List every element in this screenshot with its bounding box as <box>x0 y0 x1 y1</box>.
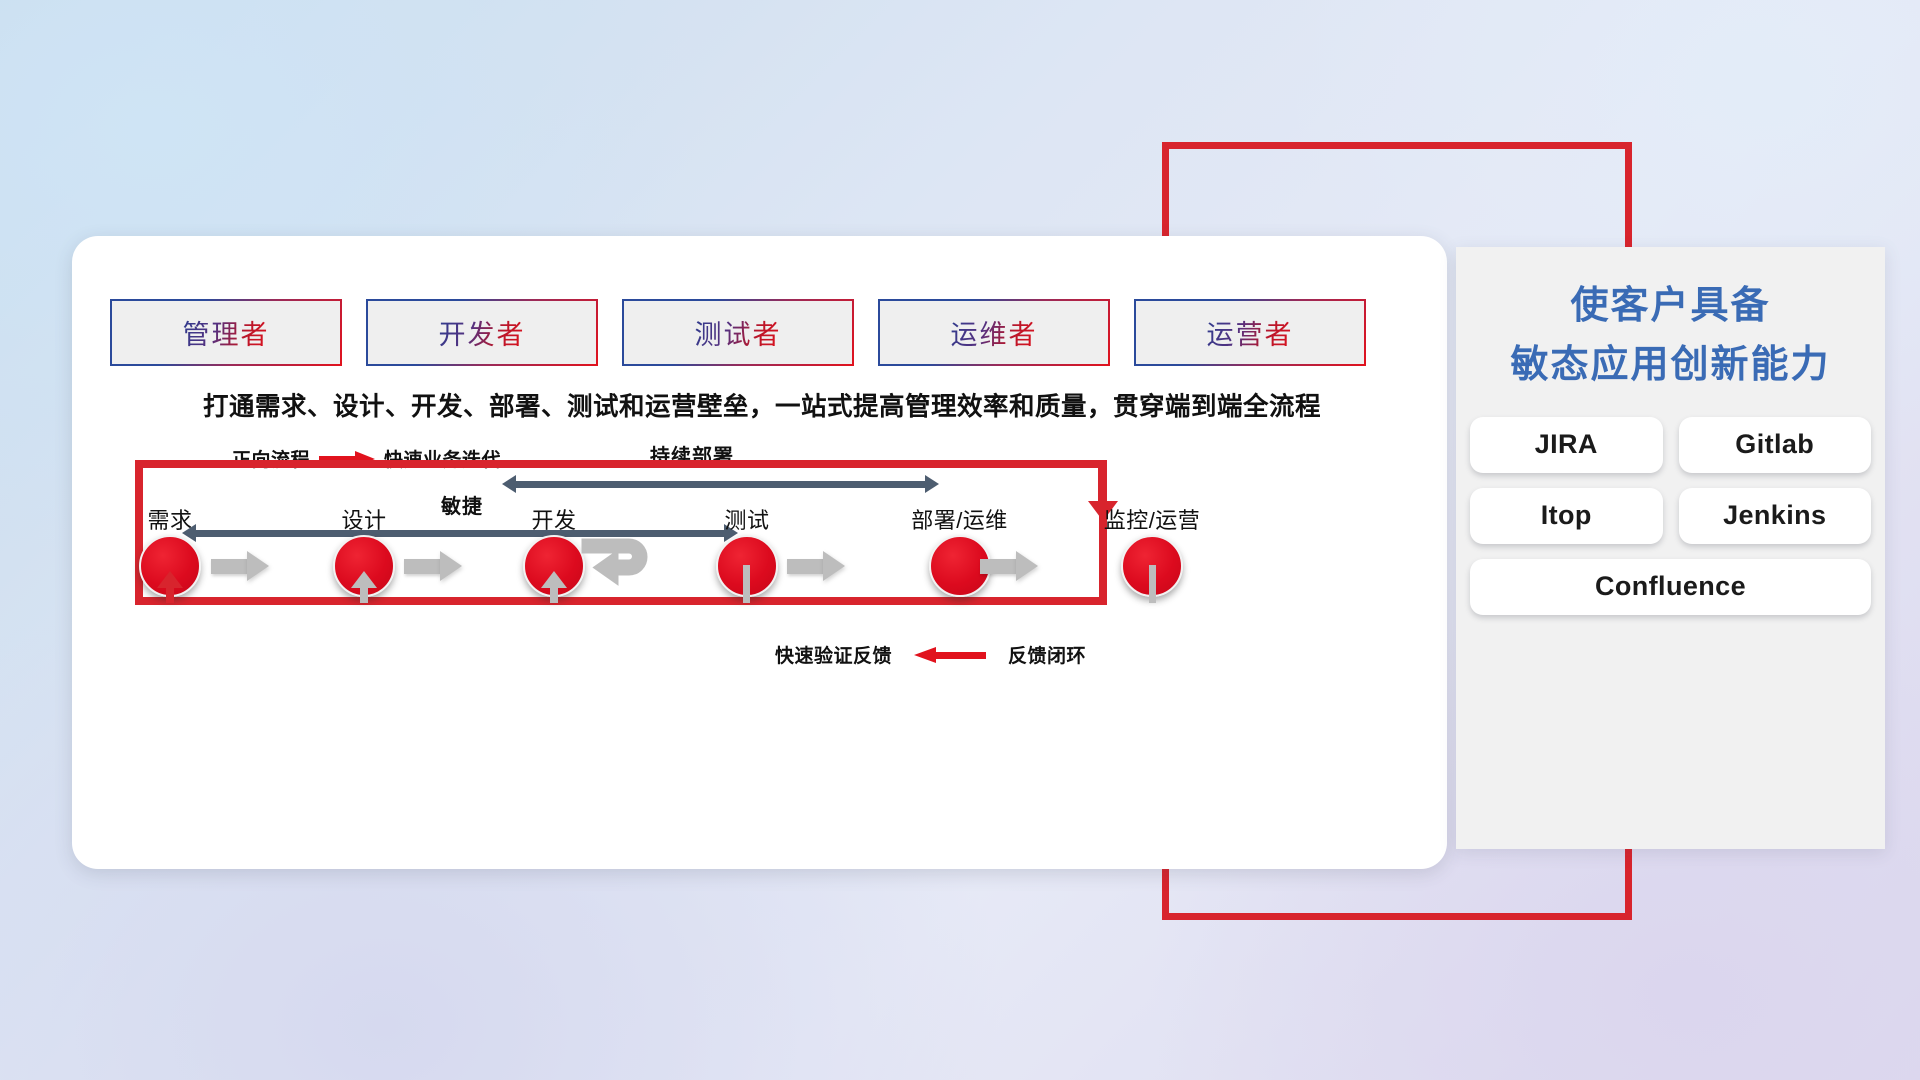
role-chip-manager[interactable]: 管理者 <box>110 299 342 366</box>
grey-stem-test <box>743 565 750 603</box>
role-chip-ops[interactable]: 运维者 <box>878 299 1110 366</box>
red-loop-top <box>135 460 1107 468</box>
legend-feedback-label: 反馈闭环 <box>1008 641 1086 668</box>
headline-text: 打通需求、设计、开发、部署、测试和运营壁垒，一站式提高管理效率和质量，贯穿端到端… <box>112 386 1412 423</box>
tool-label: Itop <box>1541 500 1592 531</box>
outer-bracket-left <box>1162 142 1169 247</box>
grey-arrow-up-to-develop-icon <box>541 571 567 603</box>
pipeline-node-label: 测试 <box>724 503 769 535</box>
pipeline-node-label: 开发 <box>531 503 576 535</box>
role-label: 运维者 <box>951 313 1038 352</box>
arrow-right-grey-icon-5 <box>980 551 1038 581</box>
role-chip-operator[interactable]: 运营者 <box>1134 299 1366 366</box>
tool-label: Gitlab <box>1735 429 1814 460</box>
tool-grid: JIRA Gitlab Itop Jenkins Confluence <box>1456 417 1885 615</box>
arrow-uturn-loop-icon <box>578 536 668 598</box>
role-label: 管理者 <box>183 313 270 352</box>
grey-arrow-up-to-design-icon <box>351 571 377 603</box>
role-chip-row: 管理者 开发者 测试者 运维者 运营者 <box>110 299 1366 366</box>
outer-bracket-top <box>1162 142 1632 149</box>
arrow-left-red-icon <box>914 647 986 663</box>
panel-title-line-2: 敏态应用创新能力 <box>1456 336 1885 395</box>
pipeline-node-label: 需求 <box>147 503 192 535</box>
grey-stem-monitor <box>1149 565 1156 603</box>
span-label-agile: 敏捷 <box>441 490 483 519</box>
legend-feedback-result: 快速验证反馈 <box>775 641 892 668</box>
panel-title: 使客户具备 敏态应用创新能力 <box>1456 247 1885 395</box>
role-label: 测试者 <box>695 313 782 352</box>
tool-label: JIRA <box>1535 429 1598 460</box>
role-label: 开发者 <box>439 313 526 352</box>
red-arrow-up-to-requirement-icon <box>157 571 183 603</box>
panel-title-line-1: 使客户具备 <box>1456 277 1885 336</box>
pipeline-node-label: 监控/运营 <box>1104 503 1201 535</box>
pipeline-node-label: 设计 <box>341 503 386 535</box>
tool-chip-gitlab[interactable]: Gitlab <box>1679 417 1872 473</box>
legend-feedback-loop: 快速验证反馈 反馈闭环 <box>775 641 1086 668</box>
pipeline-node-label: 部署/运维 <box>911 503 1008 535</box>
tool-chip-confluence[interactable]: Confluence <box>1470 559 1871 615</box>
arrow-right-grey-icon-2 <box>404 551 462 581</box>
role-label: 运营者 <box>1207 313 1294 352</box>
arrow-right-grey-icon-1 <box>211 551 269 581</box>
span-arrow-continuous-deployment <box>502 475 939 493</box>
slide-canvas: 管理者 开发者 测试者 运维者 运营者 打通需求、设计、开发、部署、测试和运营壁… <box>0 0 1920 1080</box>
value-panel: 使客户具备 敏态应用创新能力 JIRA Gitlab Itop Jenkins … <box>1456 247 1885 849</box>
arrow-right-grey-icon-4 <box>787 551 845 581</box>
tool-chip-jira[interactable]: JIRA <box>1470 417 1663 473</box>
tool-chip-itop[interactable]: Itop <box>1470 488 1663 544</box>
main-card: 管理者 开发者 测试者 运维者 运营者 打通需求、设计、开发、部署、测试和运营壁… <box>72 236 1447 869</box>
outer-bracket-bottom <box>1162 913 1632 920</box>
role-chip-tester[interactable]: 测试者 <box>622 299 854 366</box>
tool-label: Confluence <box>1595 571 1746 602</box>
tool-label: Jenkins <box>1723 500 1826 531</box>
tool-chip-jenkins[interactable]: Jenkins <box>1679 488 1872 544</box>
role-chip-developer[interactable]: 开发者 <box>366 299 598 366</box>
